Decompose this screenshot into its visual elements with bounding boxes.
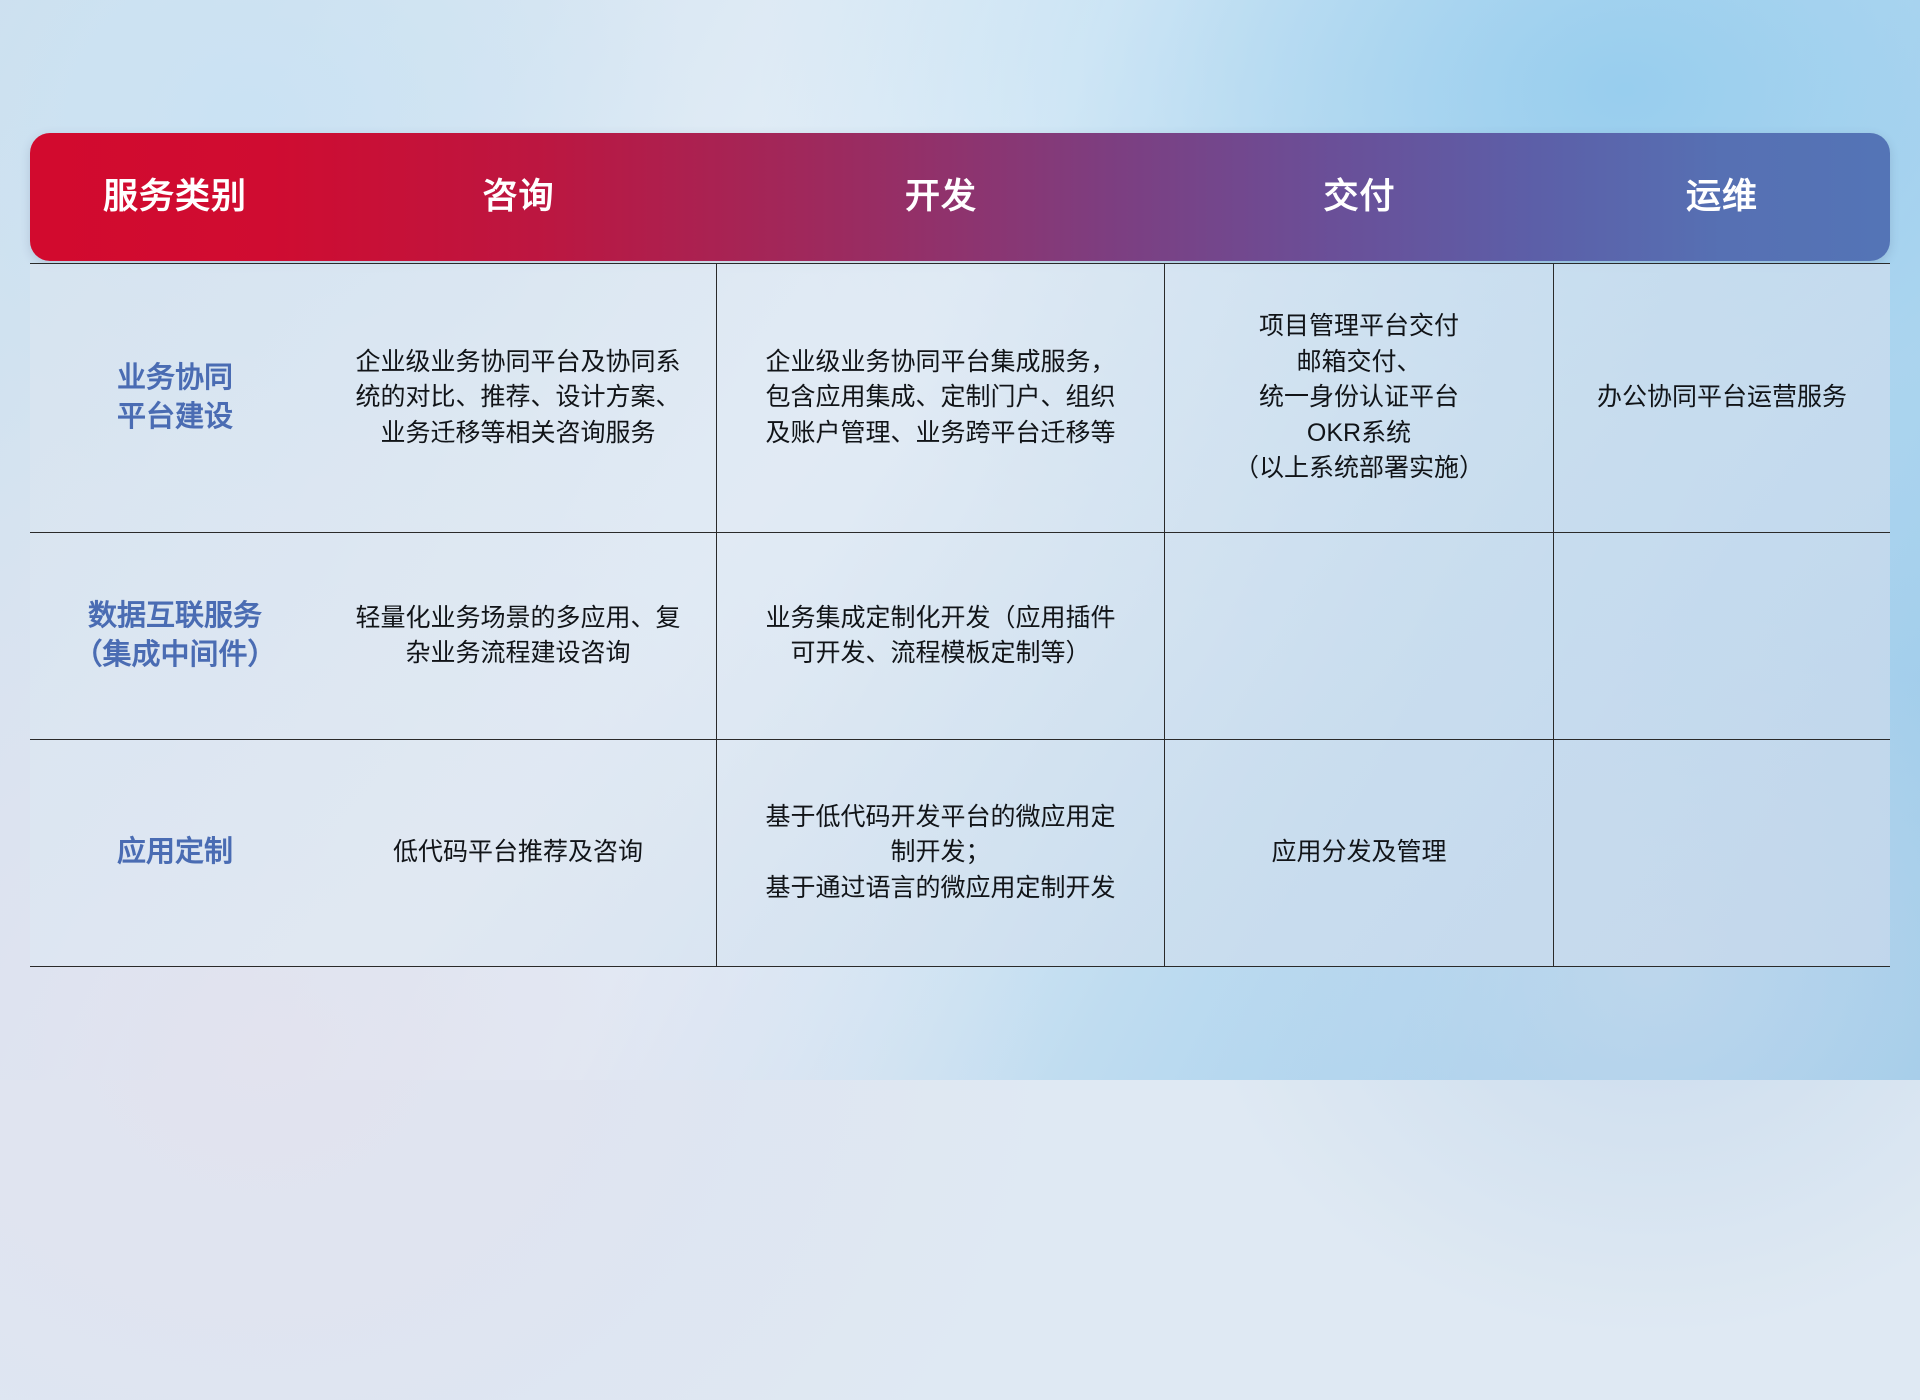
table-body: 业务协同 平台建设 企业级业务协同平台及协同系 统的对比、推荐、设计方案、 业务… <box>30 263 1890 967</box>
cell-delivery: 应用分发及管理 <box>1165 740 1554 966</box>
cell-development: 基于低代码开发平台的微应用定 制开发； 基于通过语言的微应用定制开发 <box>717 740 1165 966</box>
cell-operations: 办公协同平台运营服务 <box>1554 264 1890 532</box>
table-header-row: 服务类别 咨询 开发 交付 运维 <box>30 133 1890 261</box>
column-header-consulting: 咨询 <box>320 178 717 217</box>
cell-development: 业务集成定制化开发（应用插件 可开发、流程模板定制等） <box>717 533 1165 739</box>
cell-operations <box>1554 533 1890 739</box>
cell-consulting: 企业级业务协同平台及协同系 统的对比、推荐、设计方案、 业务迁移等相关咨询服务 <box>320 264 717 532</box>
cell-delivery: 项目管理平台交付 邮箱交付、 统一身份认证平台 OKR系统 （以上系统部署实施） <box>1165 264 1554 532</box>
service-matrix-table: 服务类别 咨询 开发 交付 运维 业务协同 平台建设 企业级业务协同平台及协同系… <box>30 133 1890 967</box>
cell-delivery <box>1165 533 1554 739</box>
cell-development: 企业级业务协同平台集成服务， 包含应用集成、定制门户、组织 及账户管理、业务跨平… <box>717 264 1165 532</box>
column-header-service-category: 服务类别 <box>30 178 320 217</box>
cell-consulting: 轻量化业务场景的多应用、复 杂业务流程建设咨询 <box>320 533 717 739</box>
row-category-label: 数据互联服务 （集成中间件） <box>30 533 320 739</box>
table-row: 应用定制 低代码平台推荐及咨询 基于低代码开发平台的微应用定 制开发； 基于通过… <box>30 740 1890 967</box>
column-header-development: 开发 <box>717 178 1165 217</box>
cell-operations <box>1554 740 1890 966</box>
table-row: 业务协同 平台建设 企业级业务协同平台及协同系 统的对比、推荐、设计方案、 业务… <box>30 264 1890 533</box>
column-header-operations: 运维 <box>1554 178 1890 217</box>
row-category-label: 应用定制 <box>30 740 320 966</box>
cell-consulting: 低代码平台推荐及咨询 <box>320 740 717 966</box>
table-row: 数据互联服务 （集成中间件） 轻量化业务场景的多应用、复 杂业务流程建设咨询 业… <box>30 533 1890 740</box>
column-header-delivery: 交付 <box>1165 178 1554 217</box>
row-category-label: 业务协同 平台建设 <box>30 264 320 532</box>
